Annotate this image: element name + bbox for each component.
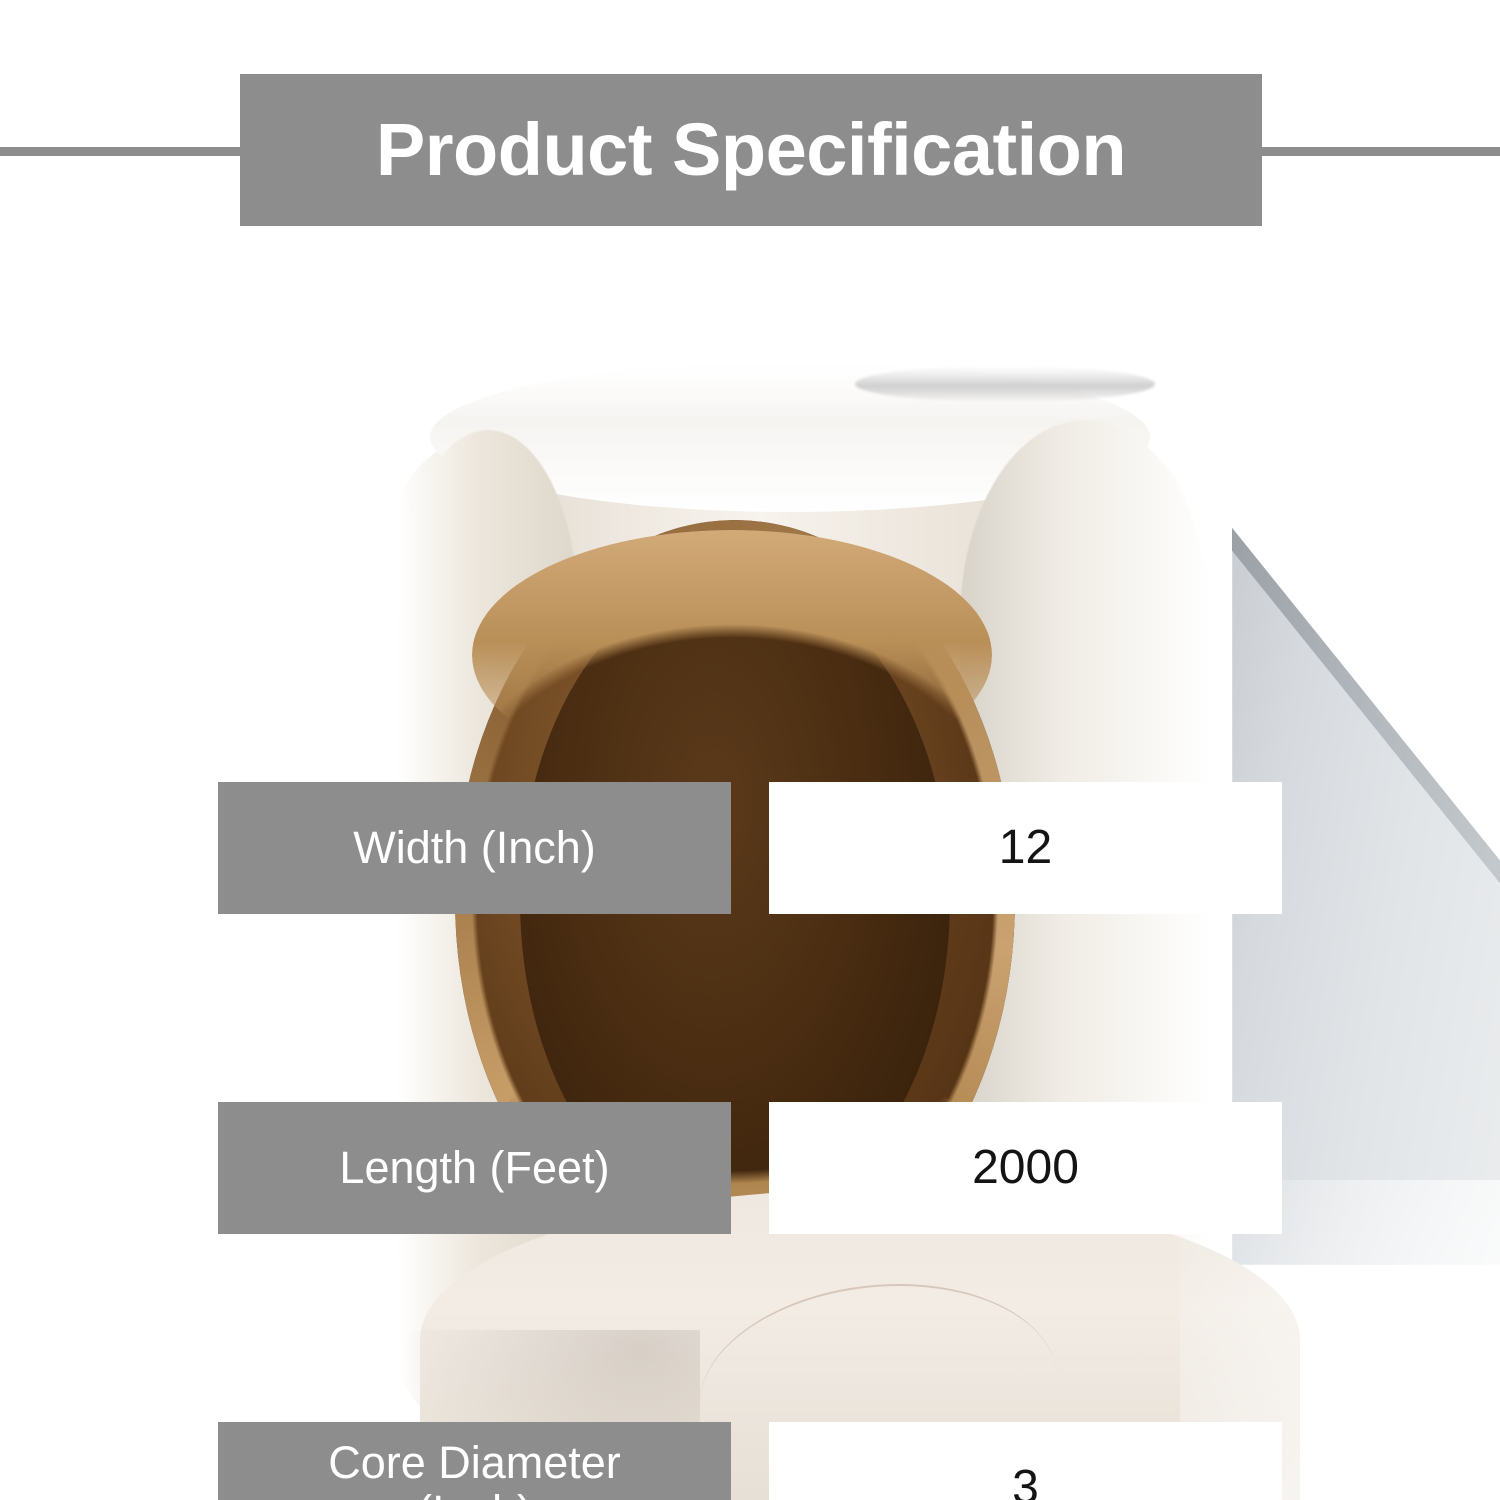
table-row: Color Clear [0, 1200, 1500, 1332]
spec-value-text: 3 [1012, 1463, 1039, 1500]
product-specification-graphic: Product Specification Width (Inch) 12 Le… [0, 0, 1500, 1500]
spec-label-core-diameter: Core Diameter (Inch) [218, 1422, 731, 1500]
table-row: Gauge 60 [0, 871, 1500, 1003]
table-row: Core Diameter (Inch) 3 [0, 711, 1500, 843]
specification-table: Width (Inch) 12 Length (Feet) 2000 Core … [0, 0, 1500, 1500]
table-row: Rolls 8 [0, 1036, 1500, 1168]
table-row: Width (Inch) 12 [0, 391, 1500, 523]
spec-label-text-line1: Core Diameter [328, 1439, 621, 1488]
spec-label-text-line2: (Inch) [417, 1488, 532, 1500]
table-row: Length (Feet) 2000 [0, 551, 1500, 683]
spec-value-core-diameter: 3 [769, 1422, 1282, 1500]
